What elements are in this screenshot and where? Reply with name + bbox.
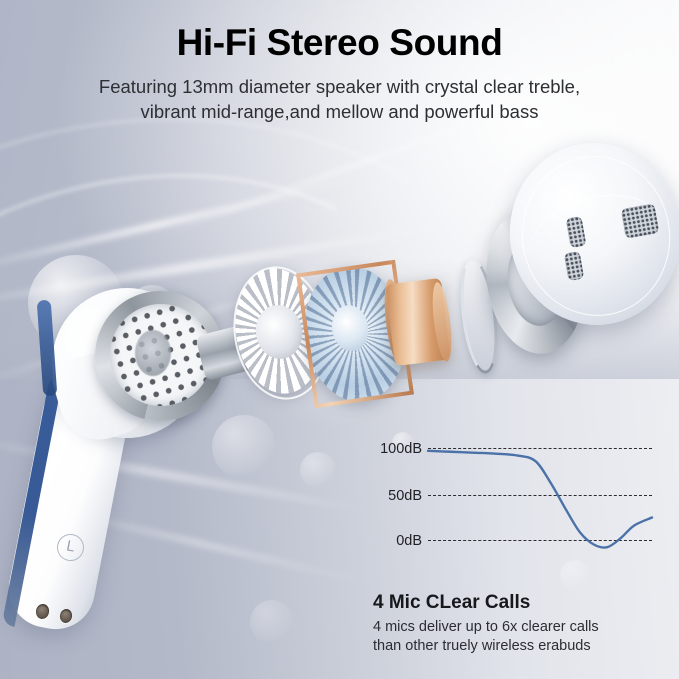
product-feature-banner: L Hi-Fi Stereo Sound Featuring 13mm diam…: [0, 0, 679, 679]
caption-title: 4 Mic CLear Calls: [373, 592, 530, 614]
noise-level-curve: [376, 436, 656, 558]
caption-body: 4 mics deliver up to 6x clearer calls th…: [373, 618, 599, 656]
caption-body-line-1: 4 mics deliver up to 6x clearer calls: [373, 618, 599, 637]
page-subtitle: Featuring 13mm diameter speaker with cry…: [0, 74, 679, 124]
page-subtitle-line-2: vibrant mid-range,and mellow and powerfu…: [0, 99, 679, 124]
noise-reduction-chart: 100dB 50dB 0dB: [376, 436, 656, 558]
caption-body-line-2: than other truely wireless erabuds: [373, 637, 599, 656]
mic-mesh-1: [621, 203, 660, 238]
page-title: Hi-Fi Stereo Sound: [0, 22, 679, 64]
grille-center-core: [135, 330, 171, 376]
page-subtitle-line-1: Featuring 13mm diameter speaker with cry…: [0, 74, 679, 99]
